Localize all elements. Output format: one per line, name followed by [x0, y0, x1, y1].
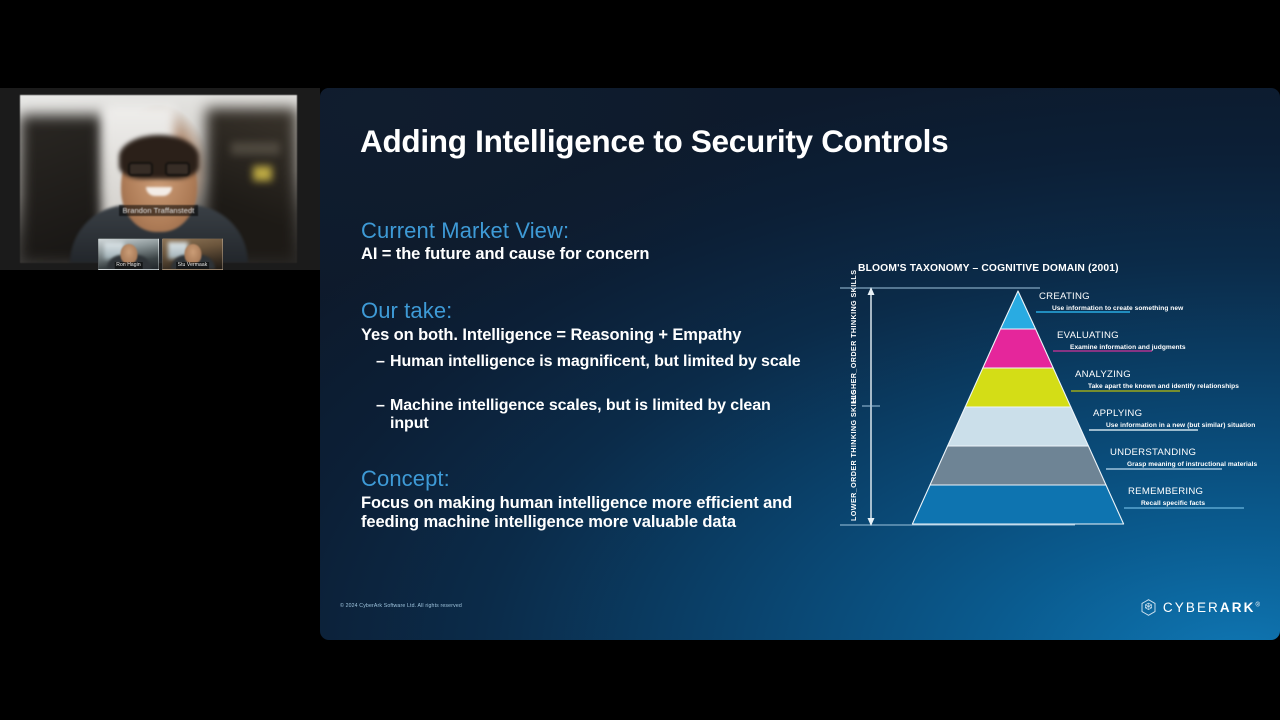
level-name-analyzing: ANALYZING [1075, 369, 1131, 380]
bullet-item: – Human intelligence is magnificent, but… [376, 353, 806, 371]
bullet-text: Machine intelligence scales, but is limi… [390, 397, 806, 433]
brand-light-text: CYBER [1163, 600, 1220, 615]
section-heading-current-market-view: Current Market View: [361, 218, 569, 244]
bullet-item: – Machine intelligence scales, but is li… [376, 397, 806, 433]
level-desc-remembering: Recall specific facts [1141, 500, 1205, 507]
pyramid-band-remembering [912, 485, 1123, 524]
brand-trademark: ® [1255, 603, 1262, 609]
participant-video-tile[interactable]: Stu Vermaak [162, 238, 223, 270]
participant-video-tile[interactable]: Ron Hagin [98, 238, 159, 270]
diagram-title: BLOOM'S TAXONOMY – COGNITIVE DOMAIN (200… [858, 263, 1119, 274]
brand-bold-text: ARK [1220, 600, 1256, 615]
cyberark-logo: CYBERARK® [1141, 599, 1262, 616]
section-heading-our-take: Our take: [361, 298, 452, 324]
level-name-creating: CREATING [1039, 291, 1090, 302]
page-title: Adding Intelligence to Security Controls [360, 123, 948, 160]
level-desc-creating: Use information to create something new [1052, 305, 1183, 312]
main-speaker-name-label: Brandon Traffanstedt [119, 205, 199, 216]
participant-face [120, 244, 137, 264]
level-desc-evaluating: Examine information and judgments [1070, 344, 1186, 351]
section-body-our-take: Yes on both. Intelligence = Reasoning + … [361, 326, 741, 345]
glasses-icon [128, 162, 190, 177]
participant-face [184, 244, 201, 264]
pyramid-band-understanding [930, 446, 1106, 485]
pyramid-band-applying [948, 407, 1089, 446]
participant-name-label: Ron Hagin [114, 262, 143, 269]
section-body-current-market-view: AI = the future and cause for concern [361, 245, 649, 264]
axis-label-lower-order: LOWER_ORDER THINKING SKILLS [850, 411, 858, 521]
bullet-dash: – [376, 353, 385, 371]
blooms-taxonomy-diagram: BLOOM'S TAXONOMY – COGNITIVE DOMAIN (200… [840, 263, 1280, 533]
pyramid-band-analyzing [965, 368, 1071, 407]
level-name-remembering: REMEMBERING [1128, 486, 1203, 497]
participant-name-label: Stu Vermaak [176, 262, 210, 269]
pyramid-band-evaluating [983, 329, 1053, 368]
video-background-object [253, 166, 272, 181]
bullet-text: Human intelligence is magnificent, but l… [390, 353, 806, 371]
video-conference-panel: Brandon Traffanstedt Ron Hagin Stu Verma… [0, 88, 320, 270]
bullet-dash: – [376, 397, 385, 415]
level-name-evaluating: EVALUATING [1057, 330, 1119, 341]
cyberark-wordmark: CYBERARK® [1163, 600, 1262, 615]
level-name-understanding: UNDERSTANDING [1110, 447, 1196, 458]
cyberark-hex-icon [1141, 599, 1156, 616]
level-desc-understanding: Grasp meaning of instructional materials [1127, 461, 1257, 468]
level-name-applying: APPLYING [1093, 408, 1142, 419]
axis-label-higher-order: HIGHER_ORDER THINKING SKILLS [850, 285, 858, 403]
pyramid-graphic [840, 281, 1280, 533]
copyright-notice: © 2024 CyberArk Software Ltd. All rights… [340, 603, 462, 609]
video-background-shelf [231, 142, 281, 155]
pyramid-band-creating [1000, 291, 1035, 329]
presentation-slide: Adding Intelligence to Security Controls… [320, 88, 1280, 640]
screen-share-view: Brandon Traffanstedt Ron Hagin Stu Verma… [0, 0, 1280, 720]
section-heading-concept: Concept: [361, 466, 450, 492]
level-desc-applying: Use information in a new (but similar) s… [1106, 422, 1255, 429]
section-body-concept: Focus on making human intelligence more … [361, 494, 821, 532]
level-desc-analyzing: Take apart the known and identify relati… [1088, 383, 1239, 390]
